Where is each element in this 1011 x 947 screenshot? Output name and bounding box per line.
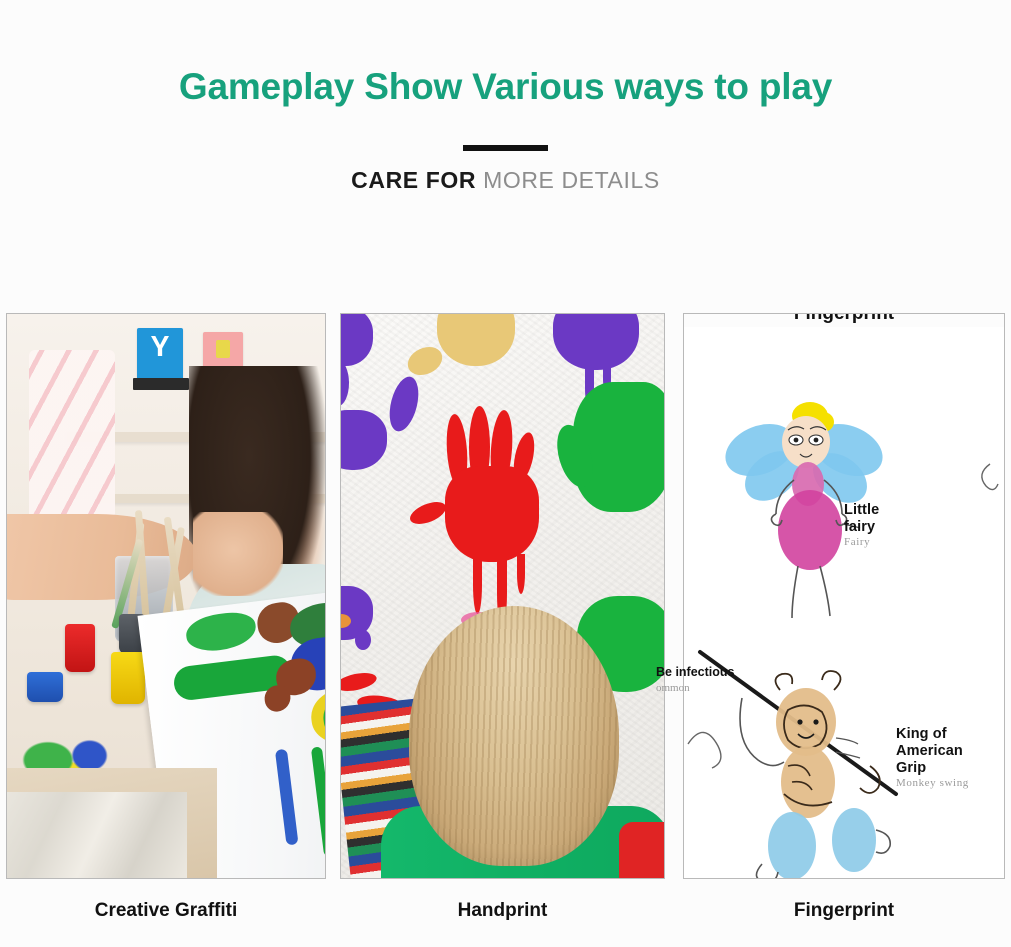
- paint-pot-yellow: [111, 652, 145, 704]
- paint-pot-blue: [27, 672, 63, 702]
- creative-graffiti-image: [7, 314, 325, 878]
- panel-creative-graffiti[interactable]: [6, 313, 326, 879]
- caption-handprint: Handprint: [340, 900, 665, 922]
- paint-pot-red: [65, 624, 95, 672]
- page-header: Gameplay Show Various ways to play CARE …: [0, 0, 1011, 194]
- plastic-sheet: [7, 792, 187, 878]
- be-infectious-note: Be infectious ommon: [656, 665, 735, 694]
- child-back-of-head: [371, 592, 664, 878]
- apron: [29, 350, 115, 530]
- fairy-label: Little fairy Fairy: [844, 502, 879, 549]
- caption-fingerprint: Fingerprint: [683, 900, 1005, 922]
- caption-creative-graffiti: Creative Graffiti: [6, 900, 326, 922]
- subtitle-strong: CARE FOR: [351, 167, 476, 193]
- fingerprint-panel-title: Fingerprint: [684, 313, 1004, 327]
- caption-row: Creative Graffiti Handprint Fingerprint: [0, 900, 1011, 940]
- panel-handprint[interactable]: [340, 313, 665, 879]
- blonde-hair: [409, 606, 619, 866]
- fingerprint-sheet: Little fairy Fairy: [684, 314, 1004, 878]
- easel-blue-icon: [137, 328, 183, 380]
- monkey-label: King of American Grip Monkey swing: [896, 726, 969, 790]
- subtitle-light: MORE DETAILS: [483, 167, 660, 193]
- fairy-drawing: [684, 354, 1004, 634]
- red-sleeve: [619, 822, 664, 878]
- handprint-image: [341, 314, 664, 878]
- title-divider: [463, 145, 548, 151]
- panel-fingerprint[interactable]: Little fairy Fairy: [683, 313, 1005, 879]
- panel-row: Little fairy Fairy: [0, 313, 1011, 879]
- paint-speck-purple: [355, 630, 371, 650]
- page-title: Gameplay Show Various ways to play: [0, 66, 1011, 109]
- promo-page: Gameplay Show Various ways to play CARE …: [0, 0, 1011, 947]
- page-subtitle: CARE FOR MORE DETAILS: [0, 167, 1011, 195]
